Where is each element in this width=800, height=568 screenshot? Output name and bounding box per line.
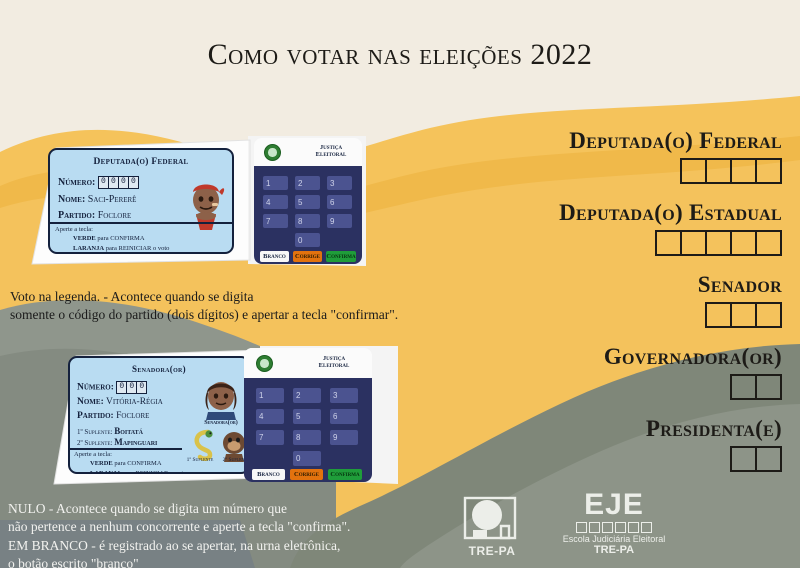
hint-laranja-rest: para REINICIAR o voto xyxy=(121,470,186,474)
brasao-republica-icon xyxy=(256,355,273,372)
justice-eleitoral-label: Justiça Eleitoral xyxy=(306,356,362,370)
field-suplente-1-label: 1º Suplente: xyxy=(77,428,112,436)
justice-eleitoral-label: Justiça Eleitoral xyxy=(306,145,356,159)
office-label: Senador xyxy=(698,272,782,298)
urna-screen-1: Deputada(o) Federal Número: 0 0 0 0 Nome… xyxy=(48,148,234,254)
eje-tre-text: TRE-PA xyxy=(543,544,685,556)
tre-pa-text: TRE-PA xyxy=(455,544,529,558)
field-numero: Número: 0 0 0 0 xyxy=(58,176,139,189)
digit-box[interactable] xyxy=(755,374,782,400)
hint-line-3: LARANJA para REINICIAR o voto xyxy=(55,244,169,253)
key-9[interactable]: 9 xyxy=(330,430,358,445)
office-governadora: Governadora(or) xyxy=(604,344,782,400)
digit-box: 0 xyxy=(109,177,118,188)
field-suplente-2-value: Mapinguari xyxy=(114,437,157,447)
justice-line-2: Eleitoral xyxy=(306,363,362,370)
field-nome: Nome: Vitória-Régia xyxy=(77,397,163,407)
suplente-caption-1: 1º Suplente xyxy=(187,457,214,463)
office-senador: Senador xyxy=(698,272,782,328)
tre-pa-logo: TRE-PA xyxy=(455,496,529,562)
key-7[interactable]: 7 xyxy=(256,430,284,445)
office-digit-boxes[interactable] xyxy=(698,302,782,328)
digit-box[interactable] xyxy=(705,230,732,256)
digit-box[interactable] xyxy=(755,302,782,328)
brasao-republica-icon xyxy=(264,144,281,161)
eje-word: EJE xyxy=(543,490,685,520)
nulo-line-2: não pertence a nenhum concorrente e aper… xyxy=(8,518,350,536)
field-partido: Partido: Foclore xyxy=(77,411,149,421)
voting-machine-deputada-federal: Deputada(o) Federal Número: 0 0 0 0 Nome… xyxy=(26,134,366,270)
hint-key-verde: VERDE xyxy=(90,460,113,467)
keypad-2[interactable]: Justiça Eleitoral 1 2 3 4 5 6 7 8 9 0 Br… xyxy=(244,348,372,482)
office-digit-boxes[interactable] xyxy=(604,374,782,400)
branco-term: EM BRANCO xyxy=(8,538,88,553)
hint-key-laranja: LARANJA xyxy=(73,245,104,252)
infographic-canvas: Como votar nas eleições 2022 Deputada(o)… xyxy=(0,0,800,568)
digit-box[interactable] xyxy=(705,158,732,184)
legenda-line-2: somente o código do partido (dois dígito… xyxy=(10,306,398,324)
hint-verde-rest: para CONFIRMA xyxy=(113,460,162,467)
legenda-line-1: Voto na legenda. - Acontece quando se di… xyxy=(10,288,398,306)
eje-blocks-icon xyxy=(543,522,685,533)
screen-hint-1: Aperte a tecla: VERDE para CONFIRMA LARA… xyxy=(55,225,169,253)
voting-machine-senadora: Senadora(or) Número: 0 0 0 Nome: Vitória… xyxy=(48,344,398,490)
digit-box: 0 xyxy=(129,177,138,188)
branco-line-2: o botão escrito "branco" xyxy=(8,555,350,568)
field-nome-label: Nome: xyxy=(58,194,85,205)
suplente-captions: 1º Suplente 2º Suplente xyxy=(182,457,250,463)
digit-box[interactable] xyxy=(705,302,732,328)
field-suplente-1-value: Boitatá xyxy=(114,426,143,436)
urna-screen-2: Senadora(or) Número: 0 0 0 Nome: Vitória… xyxy=(68,356,250,474)
digit-box: 0 xyxy=(99,177,108,188)
branco-line-1: EM BRANCO - é registrado ao se apertar, … xyxy=(8,537,350,555)
digit-box[interactable] xyxy=(755,230,782,256)
digit-box[interactable] xyxy=(680,158,707,184)
key-7[interactable]: 7 xyxy=(263,214,288,228)
justice-line-2: Eleitoral xyxy=(306,152,356,159)
office-digit-boxes[interactable] xyxy=(569,158,782,184)
legenda-rest: - Acontece quando se digita xyxy=(100,289,253,304)
key-1[interactable]: 1 xyxy=(256,388,284,403)
office-presidenta: Presidenta(e) xyxy=(646,416,782,472)
numero-digit-group: 0 0 0 0 xyxy=(98,176,139,189)
key-1[interactable]: 1 xyxy=(263,176,288,190)
key-0[interactable]: 0 xyxy=(293,451,321,466)
button-branco[interactable]: Branco xyxy=(260,251,289,262)
digit-box[interactable] xyxy=(680,230,707,256)
button-branco[interactable]: Branco xyxy=(252,469,285,480)
portrait-caption-senadora: Senadora(or) xyxy=(198,420,244,426)
field-partido: Partido: Foclore xyxy=(58,210,131,221)
office-deputada-federal: Deputada(o) Federal xyxy=(569,128,782,184)
key-4[interactable]: 4 xyxy=(256,409,284,424)
nulo-term: NULO xyxy=(8,501,46,516)
key-5[interactable]: 5 xyxy=(295,195,320,209)
field-nome-value: Saci-Pererê xyxy=(88,194,137,205)
eje-subtitle: Escola Judiciária Eleitoral xyxy=(543,534,685,544)
hint-laranja-rest: para REINICIAR o voto xyxy=(104,245,169,252)
logo-group: TRE-PA EJE Escola Judiciária Eleitoral T… xyxy=(455,496,685,562)
numero-digit-group: 0 0 0 xyxy=(116,381,147,394)
legenda-term: Voto na legenda. xyxy=(10,289,100,304)
digit-box[interactable] xyxy=(730,374,757,400)
field-numero-label: Número: xyxy=(58,177,95,188)
eje-logo: EJE Escola Judiciária Eleitoral TRE-PA xyxy=(543,490,685,556)
button-confirma[interactable]: Confirma xyxy=(328,469,362,480)
hint-line-1: Aperte a tecla: xyxy=(74,450,186,459)
office-label: Deputada(o) Federal xyxy=(569,128,782,154)
field-suplente-2: 2º Suplente: Mapinguari xyxy=(77,437,157,447)
hint-line-1: Aperte a tecla: xyxy=(55,225,169,234)
key-8[interactable]: 8 xyxy=(293,430,321,445)
key-8[interactable]: 8 xyxy=(295,214,320,228)
digit-box[interactable] xyxy=(730,302,757,328)
key-5[interactable]: 5 xyxy=(293,409,321,424)
keypad-pad-1[interactable]: 1 2 3 4 5 6 7 8 9 0 Branco Corrige Confi… xyxy=(254,166,362,264)
caption-voto-na-legenda: Voto na legenda. - Acontece quando se di… xyxy=(10,288,398,324)
digit-box[interactable] xyxy=(730,446,757,472)
nulo-rest: - Acontece quando se digita um número qu… xyxy=(46,501,287,516)
screen-office-title: Deputada(o) Federal xyxy=(50,157,232,167)
digit-box: 0 xyxy=(127,382,136,393)
hint-key-verde: VERDE xyxy=(73,235,96,242)
tre-pa-mark-icon xyxy=(461,496,521,544)
digit-box[interactable] xyxy=(755,446,782,472)
office-label: Governadora(or) xyxy=(604,344,782,370)
button-corrige[interactable]: Corrige xyxy=(290,469,323,480)
field-partido-label: Partido: xyxy=(77,411,114,421)
key-6[interactable]: 6 xyxy=(327,195,352,209)
office-label: Deputada(o) Estadual xyxy=(559,200,782,226)
key-6[interactable]: 6 xyxy=(330,409,358,424)
field-partido-value: Foclore xyxy=(116,411,149,421)
digit-box: 0 xyxy=(119,177,128,188)
key-4[interactable]: 4 xyxy=(263,195,288,209)
field-nome: Nome: Saci-Pererê xyxy=(58,194,136,205)
field-numero: Número: 0 0 0 xyxy=(77,381,147,394)
key-3[interactable]: 3 xyxy=(330,388,358,403)
button-corrige[interactable]: Corrige xyxy=(293,251,322,262)
candidate-portrait-vitoria-regia xyxy=(196,372,246,420)
field-numero-label: Número: xyxy=(77,383,114,393)
branco-rest: - é registrado ao se apertar, na urna el… xyxy=(88,538,340,553)
key-0[interactable]: 0 xyxy=(295,233,320,247)
field-partido-label: Partido: xyxy=(58,210,95,221)
screen-hint-2: Aperte a tecla: VERDE para CONFIRMA LARA… xyxy=(74,450,186,474)
hint-verde-rest: para CONFIRMA xyxy=(96,235,145,242)
digit-box[interactable] xyxy=(730,230,757,256)
key-9[interactable]: 9 xyxy=(327,214,352,228)
field-suplente-1: 1º Suplente: Boitatá xyxy=(77,426,143,436)
office-deputada-estadual: Deputada(o) Estadual xyxy=(559,200,782,256)
hint-line-2: VERDE para CONFIRMA xyxy=(74,459,186,468)
office-label: Presidenta(e) xyxy=(646,416,782,442)
nulo-line-1: NULO - Acontece quando se digita um núme… xyxy=(8,500,350,518)
digit-box[interactable] xyxy=(655,230,682,256)
caption-nulo-branco: NULO - Acontece quando se digita um núme… xyxy=(8,500,350,568)
keypad-pad-2[interactable]: 1 2 3 4 5 6 7 8 9 0 Branco Corrige Confi… xyxy=(244,378,372,482)
button-confirma[interactable]: Confirma xyxy=(326,251,356,262)
field-partido-value: Foclore xyxy=(98,210,132,221)
office-digit-boxes[interactable] xyxy=(646,446,782,472)
digit-box: 0 xyxy=(117,382,126,393)
field-nome-value: Vitória-Régia xyxy=(106,397,163,407)
screen-divider xyxy=(50,222,232,224)
key-2[interactable]: 2 xyxy=(295,176,320,190)
hint-key-laranja: LARANJA xyxy=(90,470,121,474)
field-suplente-2-label: 2º Suplente: xyxy=(77,439,112,447)
keypad-1[interactable]: Justiça Eleitoral 1 2 3 4 5 6 7 8 9 0 Br… xyxy=(254,138,362,264)
key-3[interactable]: 3 xyxy=(327,176,352,190)
field-nome-label: Nome: xyxy=(77,397,104,407)
hint-line-2: VERDE para CONFIRMA xyxy=(55,234,169,243)
office-digit-boxes[interactable] xyxy=(559,230,782,256)
key-2[interactable]: 2 xyxy=(293,388,321,403)
digit-box: 0 xyxy=(137,382,146,393)
digit-box[interactable] xyxy=(730,158,757,184)
digit-box[interactable] xyxy=(755,158,782,184)
page-title: Como votar nas eleições 2022 xyxy=(0,38,800,72)
hint-line-3: LARANJA para REINICIAR o voto xyxy=(74,469,186,474)
